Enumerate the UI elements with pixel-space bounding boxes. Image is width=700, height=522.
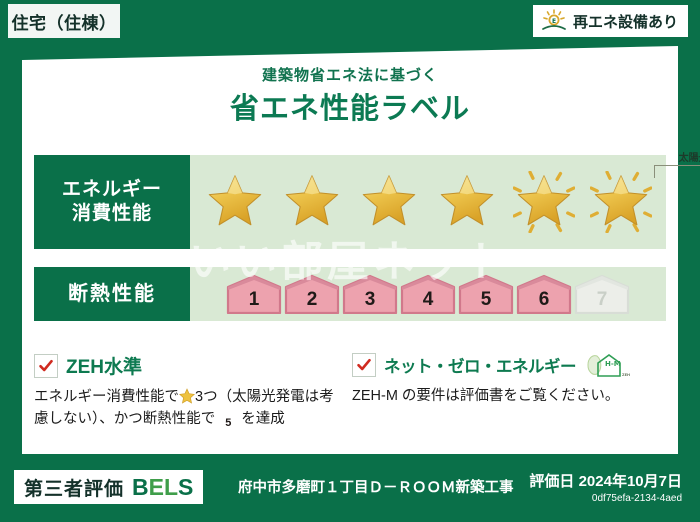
label-footer: 第三者評価 BELS 府中市多磨町１丁目Ｄ－ＲＯＯＭ新築工事 評価日 2024年… [0,462,700,522]
energy-star [281,171,343,233]
renewable-energy-badge-label: 再エネ設備あり [573,11,678,32]
svg-text:H-M: H-M [605,360,621,368]
net-zero-energy-header: ネット・ゼロ・エネルギー H-M ZEH-M [352,352,660,378]
document-id: 0df75efa-2134-4aed [529,493,682,504]
energy-performance-caption: エネルギー 消費性能 [34,155,190,249]
insulation-grade-7: 7 [574,274,630,314]
evaluation-date: 評価日 2024年10月7日 [529,470,682,491]
solar-sun-icon: E [541,9,567,33]
inline-grade-value: 5 [225,417,231,429]
net-zero-energy-check: ネット・ゼロ・エネルギー H-M ZEH-M ZEH-M の要件は評価書をご覧く… [352,352,670,431]
insulation-grade-3: 3 [342,274,398,314]
energy-caption-line2: 消費性能 [72,202,152,226]
zeh-standard-description: エネルギー消費性能で3つ（太陽光発電は考慮しない）、かつ断熱性能で5を達成 [34,386,342,431]
zeh-desc-part1: エネルギー消費性能で [34,389,179,405]
inline-star-icon [179,388,195,404]
energy-stars-container: 太陽光発電(自家消費)分 [190,155,666,249]
certification-checks: ZEH水準 エネルギー消費性能で3つ（太陽光発電は考慮しない）、かつ断熱性能で5… [34,352,670,431]
net-zero-energy-checkbox[interactable] [352,353,376,377]
housing-type-tag: 住宅（住棟） [8,4,120,38]
energy-star [358,171,420,233]
energy-performance-row: エネルギー 消費性能 太陽光発電(自家消費)分 [34,155,666,249]
insulation-grade-4: 4 [400,274,456,314]
label-subtitle: 建築物省エネ法に基づく [0,64,700,85]
bels-jp-label: 第三者評価 [24,474,124,501]
evaluation-info: 評価日 2024年10月7日 0df75efa-2134-4aed [529,470,682,504]
insulation-grade-6: 6 [516,274,572,314]
housing-type-label: 住宅（住棟） [12,9,117,34]
solar-annotation-bracket [654,165,700,178]
property-address: 府中市多磨町１丁目Ｄ－ＲＯＯＭ新築工事 [238,476,514,497]
zeh-standard-title: ZEH水準 [66,352,142,379]
bels-certification-mark: 第三者評価 BELS [14,470,203,504]
insulation-grades-container: 1 2 3 4 5 6 7 [190,267,666,321]
insulation-performance-caption: 断熱性能 [34,267,190,321]
zeh-desc-part3: を達成 [241,411,285,427]
insulation-grade-5: 5 [458,274,514,314]
insulation-performance-row: 断熱性能 1 2 3 4 5 6 7 [34,267,666,321]
zeh-standard-check: ZEH水準 エネルギー消費性能で3つ（太陽光発電は考慮しない）、かつ断熱性能で5… [34,352,352,431]
page-title: 省エネ性能ラベル [0,85,700,127]
solar-annotation-label: 太陽光発電(自家消費)分 [642,149,700,164]
net-zero-energy-description: ZEH-M の要件は評価書をご覧ください。 [352,385,660,407]
energy-caption-line1: エネルギー [62,178,162,202]
net-zero-energy-title: ネット・ゼロ・エネルギー [384,353,576,377]
zeh-standard-checkbox[interactable] [34,354,58,378]
bels-en-label: BELS [132,474,193,501]
inline-grade-badge: 5 [215,414,241,431]
check-icon [38,358,54,374]
bels-energy-label: 住宅（住棟） E 再エネ設備あり 建築物省エネ法に基づく 省エネ性能ラベル [0,0,700,522]
zeh-standard-header: ZEH水準 [34,352,342,379]
renewable-energy-badge: E 再エネ設備あり [533,5,688,37]
insulation-grade-2: 2 [284,274,340,314]
energy-star [513,171,575,233]
energy-star [436,171,498,233]
energy-star [590,171,652,233]
insulation-caption-label: 断熱性能 [68,282,156,307]
insulation-grade-1: 1 [226,274,282,314]
check-icon [356,357,372,373]
svg-text:E: E [552,18,556,25]
zeh-m-logo: H-M ZEH-M [586,352,630,378]
energy-star [204,171,266,233]
svg-text:ZEH-M: ZEH-M [622,373,630,377]
